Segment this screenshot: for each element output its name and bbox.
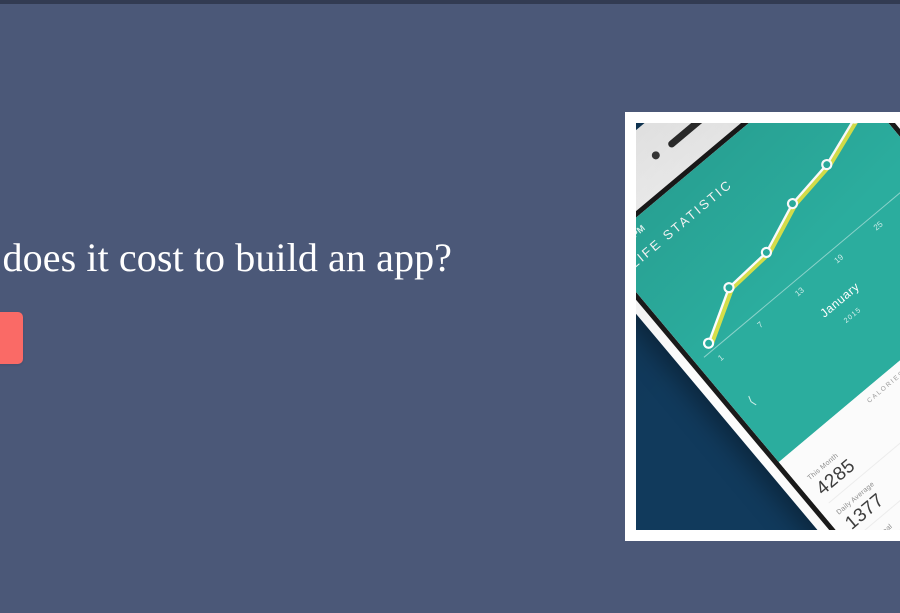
showcase-photo: 4:21 PM LIFE STATISTIC 171319 [636,123,900,530]
get-estimate-button[interactable]: GET ESTIMATE [0,312,23,364]
hero-copy-block: How much does it cost to build an app? G… [0,232,515,364]
svg-text:19: 19 [833,252,846,265]
svg-text:25: 25 [872,219,885,232]
month-year: 2015 [843,307,863,325]
top-nav-edge [0,0,900,4]
phone-mockup: 4:21 PM LIFE STATISTIC 171319 [636,123,900,530]
svg-text:7: 7 [756,320,766,330]
page-title: How much does it cost to build an app? [0,232,515,284]
showcase-card[interactable]: 4:21 PM LIFE STATISTIC 171319 [625,112,900,541]
svg-text:13: 13 [793,285,806,298]
svg-text:1: 1 [716,353,726,363]
